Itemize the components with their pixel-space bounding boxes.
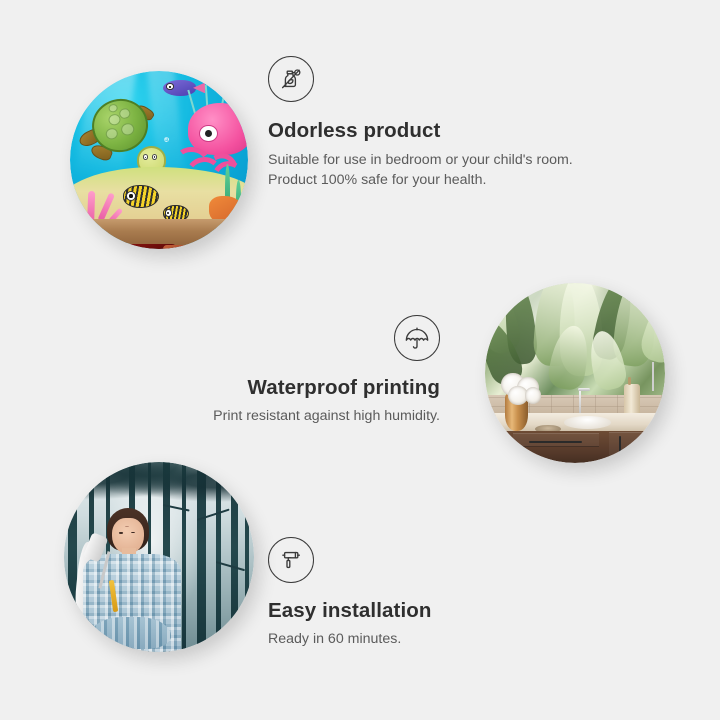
feature-description: Ready in 60 minutes.	[268, 629, 598, 649]
feature-title: Easy installation	[268, 599, 598, 623]
door-handle[interactable]	[619, 436, 621, 458]
no-odor-perfume-bottle-icon	[268, 56, 314, 102]
feature-banner: Odorless product Suitable for use in bed…	[0, 0, 720, 720]
feature-odorless: Odorless product Suitable for use in bed…	[268, 56, 608, 191]
feature-waterproof: Waterproof printing Print resistant agai…	[140, 315, 440, 426]
room-floor	[70, 219, 248, 249]
feature-title: Waterproof printing	[140, 376, 440, 400]
folded-arms	[90, 617, 171, 649]
feature-description: Suitable for use in bedroom or your chil…	[268, 150, 608, 191]
vanity-door[interactable]	[609, 432, 665, 463]
sea-turtle-illustration	[77, 99, 162, 170]
umbrella-icon	[394, 315, 440, 361]
drawer-handle[interactable]	[529, 441, 582, 443]
underwater-cartoon-wallpaper-photo	[70, 71, 248, 249]
sink-basin	[564, 416, 611, 429]
feature-title: Odorless product	[268, 119, 608, 143]
paint-roller-icon	[268, 537, 314, 583]
feature-description: Print resistant against high humidity.	[140, 406, 440, 426]
furniture-silhouette	[163, 245, 209, 249]
coral-illustration	[70, 165, 120, 226]
furniture-silhouette	[205, 245, 217, 249]
yellow-fish-icon	[123, 185, 159, 208]
blue-fish-icon	[163, 80, 197, 96]
feature-installation: Easy installation Ready in 60 minutes.	[268, 537, 598, 649]
forest-wallpaper-installer-photo	[64, 462, 254, 652]
wood-vanity-cabinet	[503, 431, 665, 463]
woman-installer	[79, 508, 185, 652]
towel-ring	[652, 362, 654, 391]
white-flower	[525, 387, 541, 403]
bathroom-tropical-wallpaper-photo	[485, 283, 665, 463]
